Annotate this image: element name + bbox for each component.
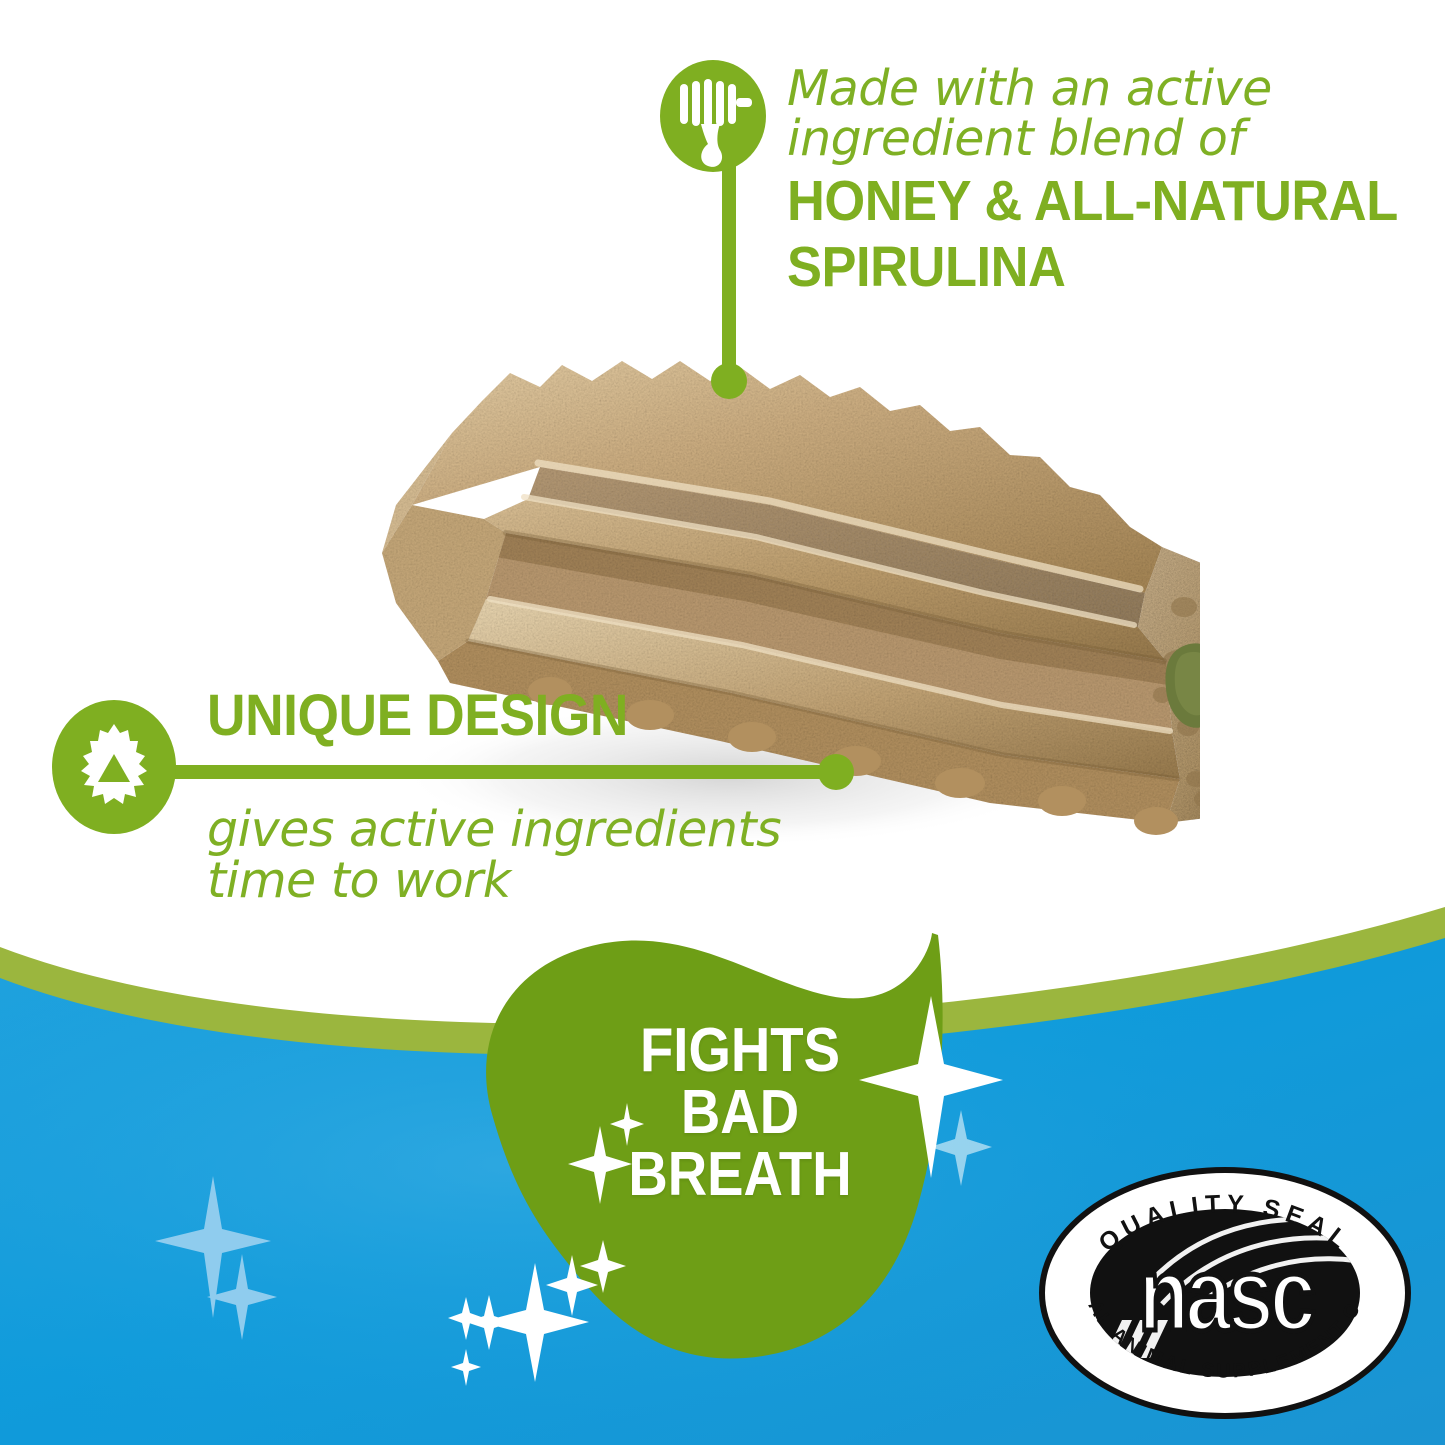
unique-design-title: UNIQUE DESIGN	[207, 687, 628, 745]
fights-bad-breath-text: FIGHTS BAD BREATH	[582, 1020, 899, 1206]
unique-design-connector-line	[150, 765, 840, 779]
honey-spirulina-callout: Made with an active ingredient blend of …	[660, 60, 1440, 296]
nasc-wordmark: nasc	[1138, 1236, 1314, 1352]
honey-callout-headline-1: HONEY & ALL-NATURAL	[787, 172, 1398, 230]
nasc-quality-seal: nasc QUALITY SEAL NATIONAL ANIMAL SUPPLE…	[1030, 1162, 1420, 1424]
chew-cross-section-icon	[52, 700, 176, 835]
unique-design-subtext-line-2: time to work	[207, 856, 827, 907]
product-feature-panel: Made with an active ingredient blend of …	[0, 0, 1445, 1445]
honey-callout-text-block: Made with an active ingredient blend of …	[787, 60, 1445, 296]
unique-design-subtext: gives active ingredients time to work	[207, 805, 827, 907]
blob-line-2: BAD	[582, 1082, 899, 1144]
blob-line-3: BREATH	[582, 1144, 899, 1206]
honey-callout-lead-line-2: ingredient blend of	[787, 114, 1445, 164]
honey-callout-lead-line-1: Made with an active	[787, 64, 1445, 114]
honey-callout-headline-2: SPIRULINA	[787, 238, 1398, 296]
unique-design-subtext-line-1: gives active ingredients	[207, 805, 827, 856]
honey-callout-connector-dot	[711, 363, 747, 399]
honey-dipper-icon	[660, 60, 767, 180]
blob-line-1: FIGHTS	[582, 1020, 899, 1082]
unique-design-connector-dot	[818, 754, 854, 790]
